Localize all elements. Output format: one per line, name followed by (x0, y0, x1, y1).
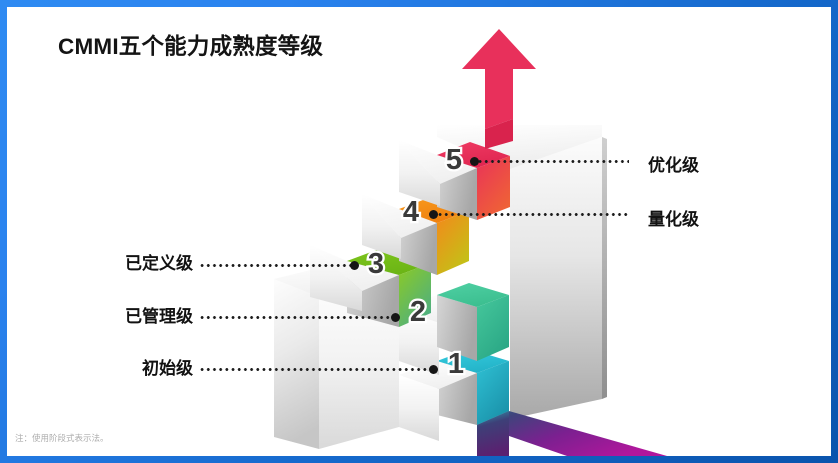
connector-line-5 (477, 160, 629, 163)
level-label-5: 优化级 (648, 151, 699, 176)
connector-line-4 (437, 213, 629, 216)
step-number-3: 3 (368, 248, 384, 280)
connector-dot-1 (429, 365, 438, 374)
level-label-4: 量化级 (648, 205, 699, 230)
connector-dot-2 (391, 313, 400, 322)
slide-canvas: CMMI五个能力成熟度等级 (7, 7, 831, 456)
slide-frame: CMMI五个能力成熟度等级 (0, 0, 838, 463)
level-label-3: 已定义级 (89, 249, 193, 274)
step-number-4: 4 (403, 196, 419, 228)
step-number-5: 5 (446, 144, 462, 176)
connector-line-2 (199, 316, 392, 319)
footnote: 注：使用阶段式表示法。 (15, 432, 109, 444)
connector-line-3 (199, 264, 351, 267)
level-label-2: 已管理级 (89, 302, 193, 327)
connector-line-1 (199, 368, 430, 371)
level-label-1: 初始级 (89, 354, 193, 379)
step-number-1: 1 (448, 348, 464, 380)
staircase-diagram: 1 1 2 2 3 3 4 4 5 5 (7, 7, 831, 456)
connector-dot-5 (470, 157, 479, 166)
step-number-2: 2 (410, 296, 426, 328)
connector-dot-4 (429, 210, 438, 219)
connector-dot-3 (350, 261, 359, 270)
